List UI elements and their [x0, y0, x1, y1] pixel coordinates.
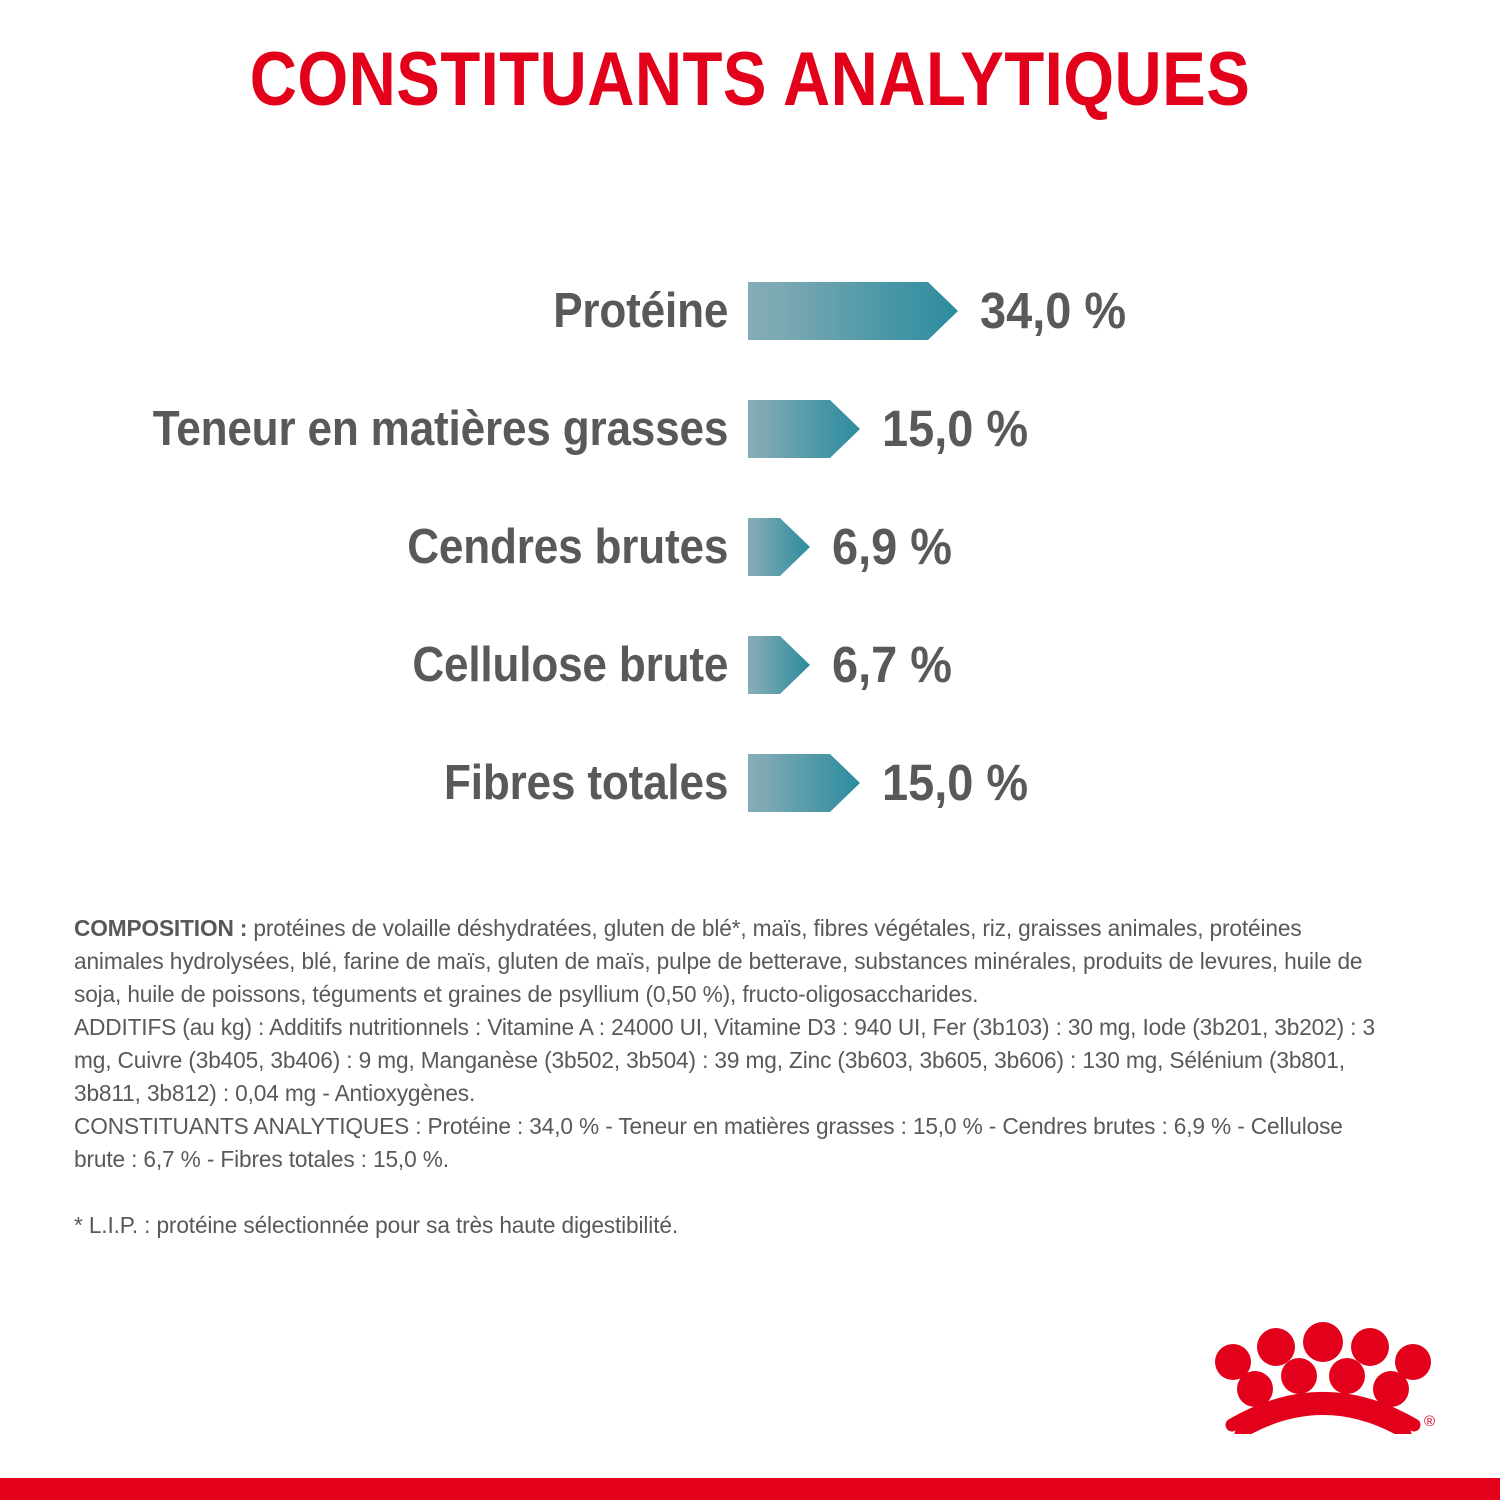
nutrient-label: Fibres totales — [73, 755, 730, 811]
legal-text-block: COMPOSITION : protéines de volaille désh… — [74, 912, 1424, 1242]
nutrient-bar — [748, 282, 958, 340]
nutrient-row: Protéine 34,0 % — [0, 252, 1500, 370]
page-title: CONSTITUANTS ANALYTIQUES — [105, 38, 1395, 122]
nutrient-row: Cendres brutes 6,9 % — [0, 488, 1500, 606]
nutrient-bar — [748, 400, 860, 458]
analytical-constituents-paragraph: CONSTITUANTS ANALYTIQUES : Protéine : 34… — [74, 1110, 1377, 1176]
paragraph-spacer — [74, 1176, 1424, 1209]
nutrient-bar — [748, 518, 810, 576]
nutrient-value: 15,0 % — [882, 400, 1028, 458]
nutrient-label: Teneur en matières grasses — [73, 401, 730, 457]
lip-footnote: * L.I.P. : protéine sélectionnée pour sa… — [74, 1209, 1377, 1242]
bottom-red-band — [0, 1478, 1500, 1500]
nutrient-bar — [748, 754, 860, 812]
nutrient-label: Protéine — [73, 283, 730, 339]
nutrient-value: 6,7 % — [832, 636, 952, 694]
nutrient-row: Cellulose brute 6,7 % — [0, 606, 1500, 724]
composition-paragraph: COMPOSITION : protéines de volaille désh… — [74, 912, 1377, 1011]
nutrient-value: 15,0 % — [882, 754, 1028, 812]
registered-mark-icon: ® — [1424, 1413, 1435, 1430]
nutrient-value: 6,9 % — [832, 518, 952, 576]
analytical-constituents-chart: Protéine 34,0 % Teneur en matières grass… — [0, 252, 1500, 842]
additives-paragraph: ADDITIFS (au kg) : Additifs nutritionnel… — [74, 1011, 1377, 1110]
nutrient-label: Cendres brutes — [73, 519, 730, 575]
composition-body: protéines de volaille déshydratées, glut… — [74, 915, 1362, 1007]
nutrient-row: Teneur en matières grasses 15,0 % — [0, 370, 1500, 488]
composition-heading: COMPOSITION : — [74, 915, 247, 941]
nutrient-label: Cellulose brute — [73, 637, 730, 693]
nutrient-row: Fibres totales 15,0 % — [0, 724, 1500, 842]
nutrient-value: 34,0 % — [980, 282, 1126, 340]
nutrient-bar — [748, 636, 810, 694]
royal-canin-crown-logo: ® — [1210, 1322, 1436, 1434]
